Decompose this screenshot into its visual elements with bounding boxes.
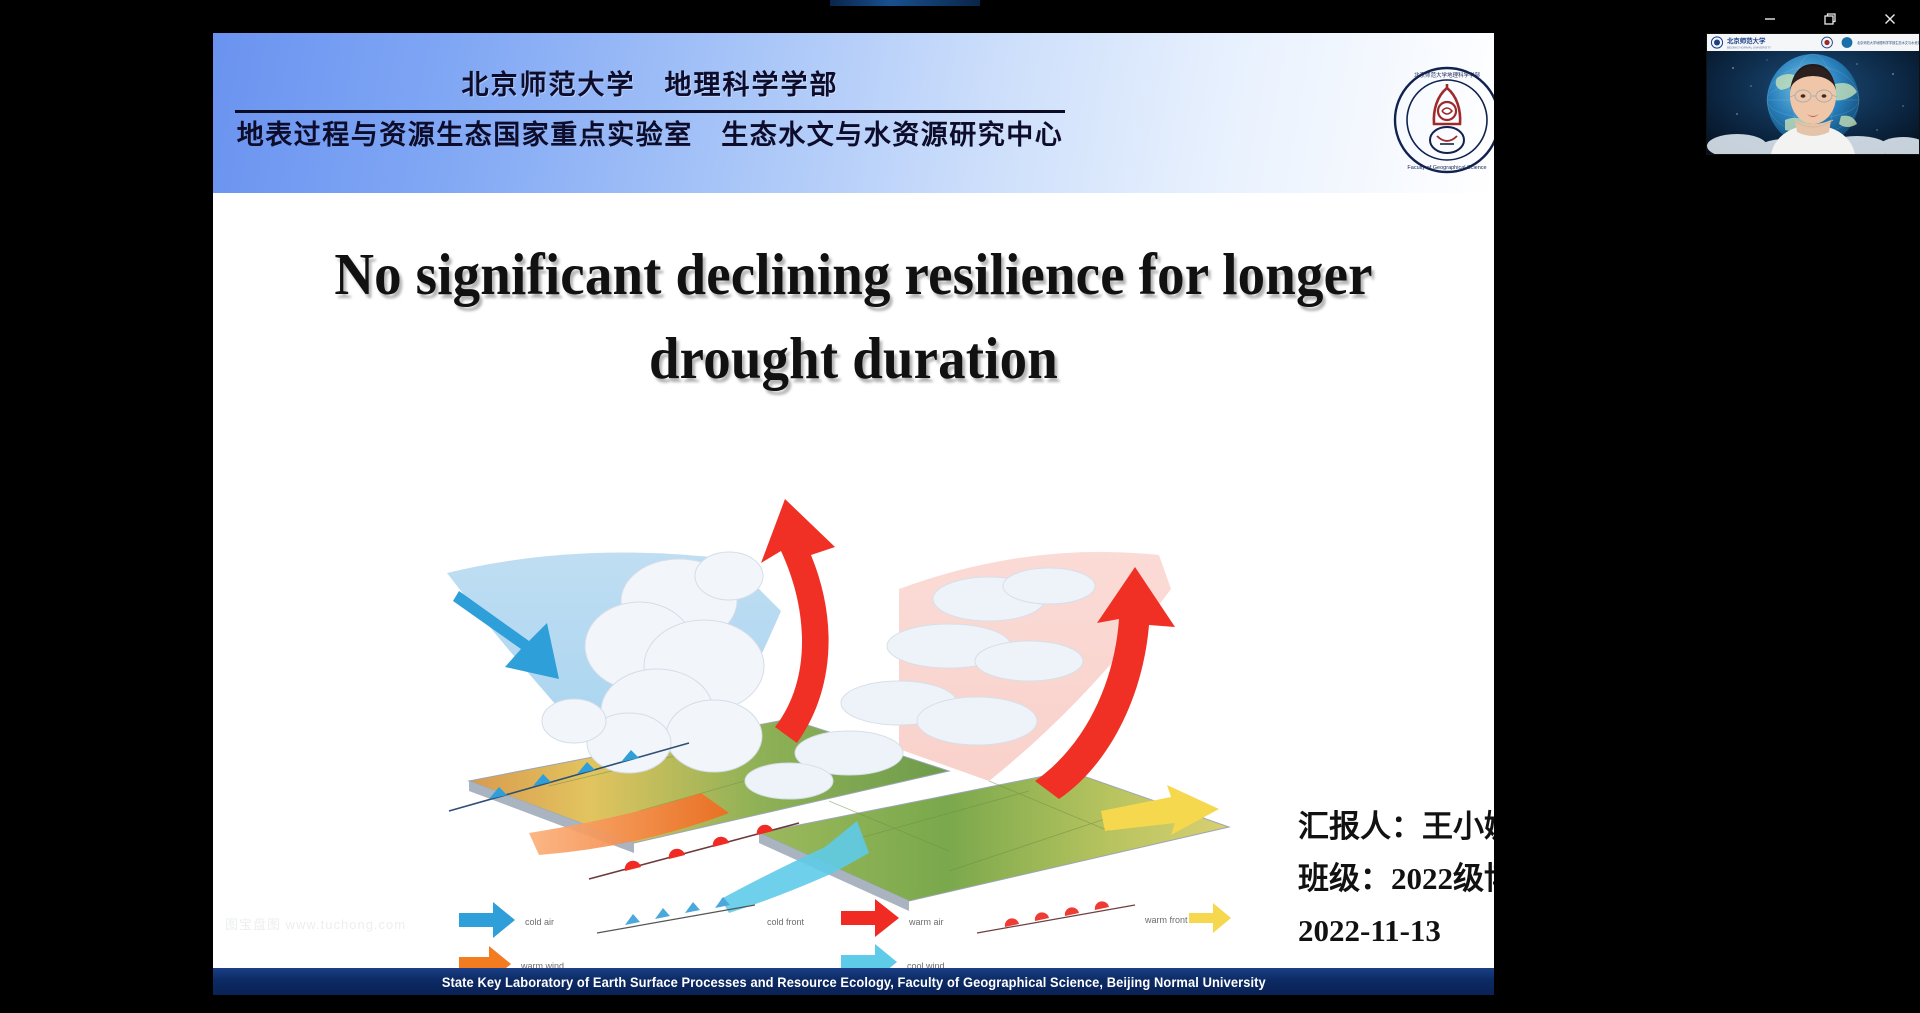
institution-header: 北京师范大学 地理科学学部 地表过程与资源生态国家重点实验室 生态水文与水资源研…	[235, 69, 1065, 153]
slide-title-container: No significant declining resilience for …	[213, 233, 1494, 401]
presenter-line: 汇报人：王小娜	[1298, 805, 1494, 850]
svg-text:warm air: warm air	[908, 917, 944, 927]
lab-name: 地表过程与资源生态国家重点实验室 生态水文与水资源研究中心	[235, 119, 1065, 153]
presenter-video-tile[interactable]: 北京师范大学 BEIJING NORMAL UNIVERSITY 北京师范大学地…	[1706, 33, 1920, 155]
legend-item-cold-air: cold air	[459, 902, 554, 938]
weather-front-illustration: cold air cold front warm air	[429, 481, 1239, 971]
svg-text:warm front: warm front	[1144, 915, 1188, 925]
legend-item-movement-of-front	[1189, 903, 1231, 933]
svg-text:BEIJING NORMAL UNIVERSITY: BEIJING NORMAL UNIVERSITY	[1727, 46, 1771, 50]
restore-icon	[1822, 11, 1838, 27]
close-button[interactable]	[1860, 0, 1920, 38]
author-block: 汇报人：王小娜 班级：2022级博士生 2022-11-13	[1298, 805, 1494, 961]
svg-text:北京师范大学地理科学学部生态水文与水资源研究中心: 北京师范大学地理科学学部生态水文与水资源研究中心	[1857, 40, 1919, 45]
slide-title: No significant declining resilience for …	[282, 233, 1425, 401]
close-icon	[1882, 11, 1898, 27]
bnu-faculty-seal-icon: 北京师范大学地理科学学部 Faculty of Geographical Sci…	[1393, 66, 1494, 174]
slide-footer-bar: State Key Laboratory of Earth Surface Pr…	[213, 968, 1494, 995]
header-divider-rule	[235, 110, 1065, 113]
legend-item-cold-front: cold front	[597, 897, 805, 933]
date-line: 2022-11-13	[1298, 909, 1494, 954]
legend-item-warm-air: warm air	[841, 899, 944, 937]
presentation-slide[interactable]: 北京师范大学 地理科学学部 地表过程与资源生态国家重点实验室 生态水文与水资源研…	[213, 33, 1494, 995]
svg-text:cold front: cold front	[767, 917, 805, 927]
window-controls	[1740, 0, 1920, 38]
minimize-button[interactable]	[1740, 0, 1800, 38]
restore-button[interactable]	[1800, 0, 1860, 38]
screen-root: 北京师范大学 地理科学学部 地表过程与资源生态国家重点实验室 生态水文与水资源研…	[0, 0, 1920, 1013]
class-line: 班级：2022级博士生	[1298, 857, 1494, 902]
slide-header-band: 北京师范大学 地理科学学部 地表过程与资源生态国家重点实验室 生态水文与水资源研…	[213, 33, 1494, 193]
legend-item-warm-front: warm front	[977, 901, 1188, 933]
svg-text:Faculty of Geographical Scienc: Faculty of Geographical Science	[1407, 165, 1486, 171]
minimize-icon	[1762, 11, 1778, 27]
legend-item-cool-wind: cool wind	[841, 944, 945, 971]
university-name: 北京师范大学 地理科学学部	[235, 69, 1065, 103]
svg-text:北京师范大学地理科学学部: 北京师范大学地理科学学部	[1414, 71, 1481, 79]
slide-footer-text: State Key Laboratory of Earth Surface Pr…	[442, 974, 1266, 990]
svg-text:cold air: cold air	[525, 917, 554, 927]
hidden-toolbar-sliver[interactable]	[830, 0, 980, 6]
image-watermark: 图宝盘图 www.tuchong.com	[225, 914, 406, 933]
